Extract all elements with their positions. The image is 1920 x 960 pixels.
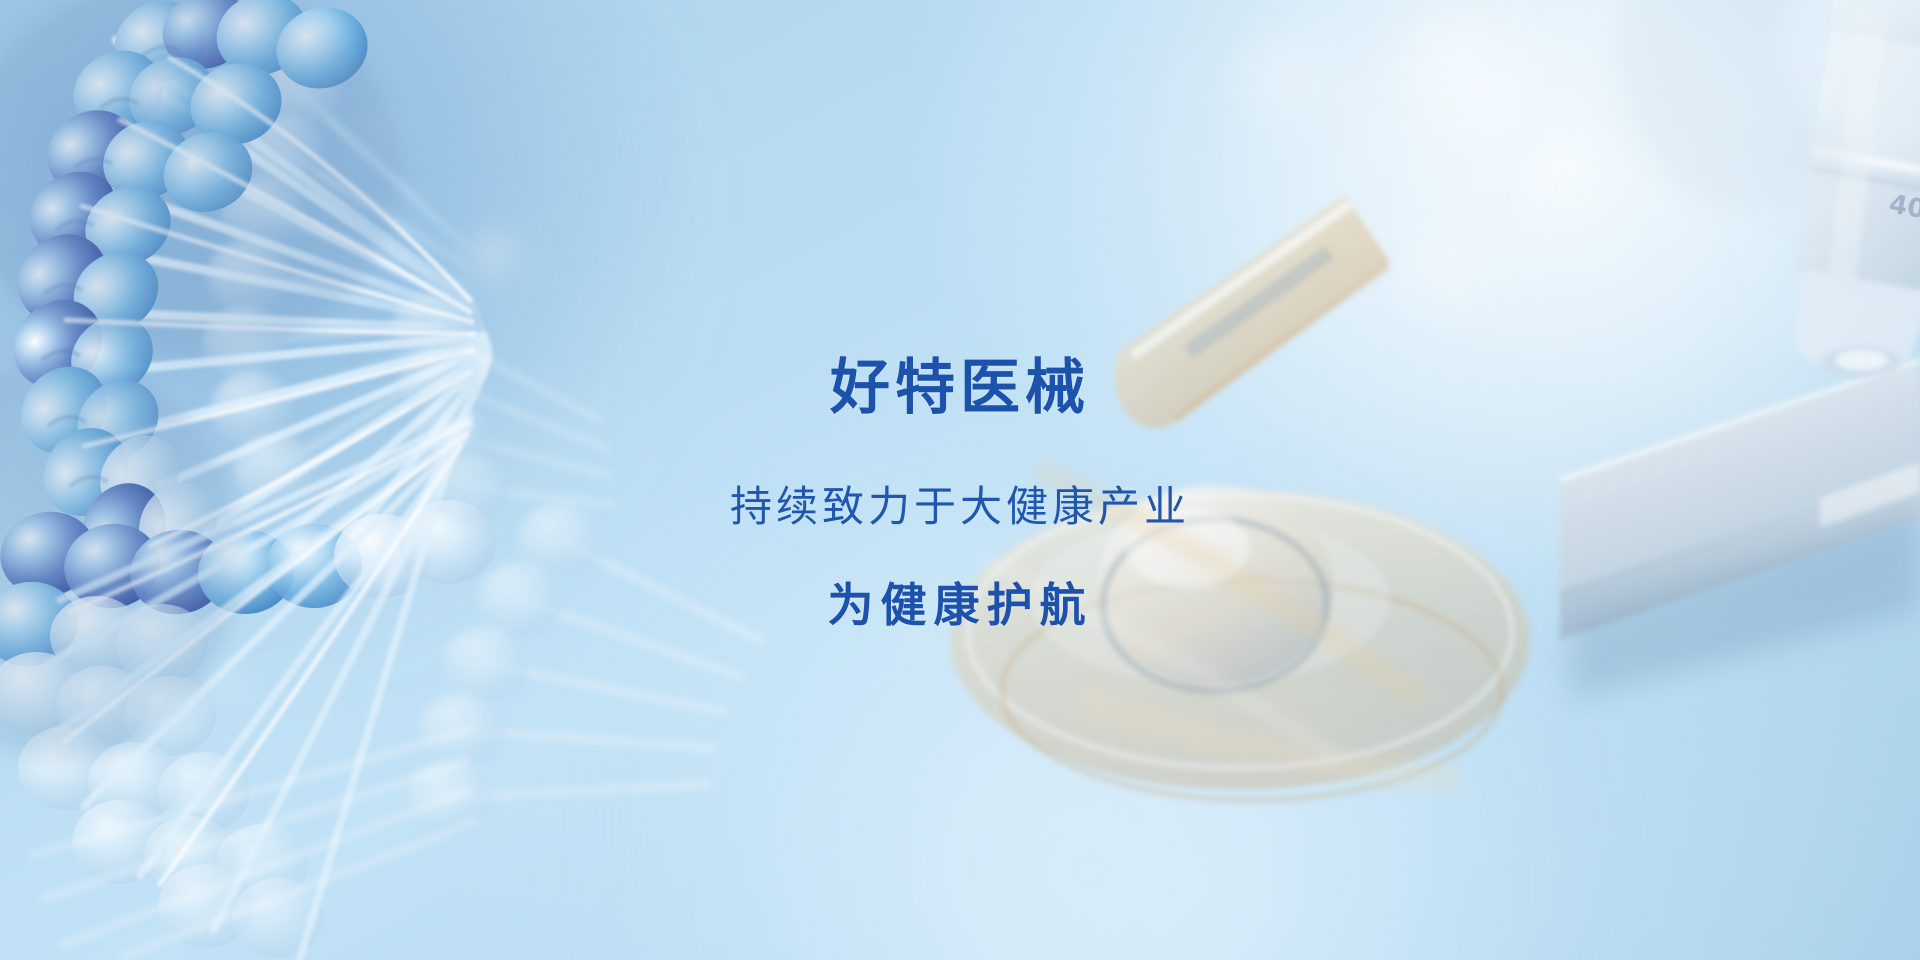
dna-stems-upper: [90, 40, 488, 582]
microscope-objective-lens: [1794, 0, 1920, 378]
dna-nucleotide-chain-lower: [0, 500, 496, 958]
bokeh-dot: [1398, 10, 1548, 160]
helix-depth-shadow: [0, 0, 400, 760]
dna-far-strand: [390, 295, 612, 523]
page-subtitle: 持续致力于大健康产业: [730, 483, 1190, 530]
microscope-stage: [1560, 360, 1920, 640]
bokeh-dot: [905, 630, 939, 664]
background-wash-left: [0, 0, 680, 600]
bokeh-dot: [368, 120, 394, 146]
liquid-droplet: [1097, 485, 1333, 691]
petri-dish: [950, 490, 1530, 800]
glass-reflection-streaks: [980, 470, 1460, 780]
bokeh-dot: [470, 232, 526, 288]
page-tagline: 为健康护航: [828, 580, 1093, 631]
background-wash-bottom: [540, 560, 1640, 960]
lab-glassware-layer: 40: [0, 0, 1920, 960]
bokeh-dot: [213, 672, 243, 702]
bokeh-dot: [1232, 30, 1350, 148]
dna-nucleotide-chain-upper: [0, 0, 377, 587]
background-wash-right: [1120, 0, 1920, 600]
dna-lower-right-arm: [407, 502, 760, 836]
bokeh-dot: [196, 545, 230, 579]
stage-shadow: [1570, 510, 1920, 700]
dna-stems-lower: [46, 418, 470, 958]
test-tube: [1114, 196, 1390, 428]
page-title: 好特医械: [830, 356, 1090, 421]
dna-ball-contours: [42, 47, 180, 486]
hero-banner: 40: [0, 0, 1920, 960]
dna-back-strand: [203, 56, 470, 506]
objective-magnification-label: 40: [1887, 189, 1920, 225]
hero-text-block: 好特医械 持续致力于大健康产业 为健康护航: [0, 0, 1920, 960]
bokeh-dot: [28, 398, 68, 438]
light-streaks: [30, 730, 480, 958]
microscope-body-blur: [1620, 0, 1920, 210]
bokeh-dot: [1518, 130, 1638, 250]
dna-backbone-highlight: [64, 58, 474, 884]
dna-double-helix: [0, 0, 1920, 960]
bokeh-dot: [1400, 228, 1504, 332]
